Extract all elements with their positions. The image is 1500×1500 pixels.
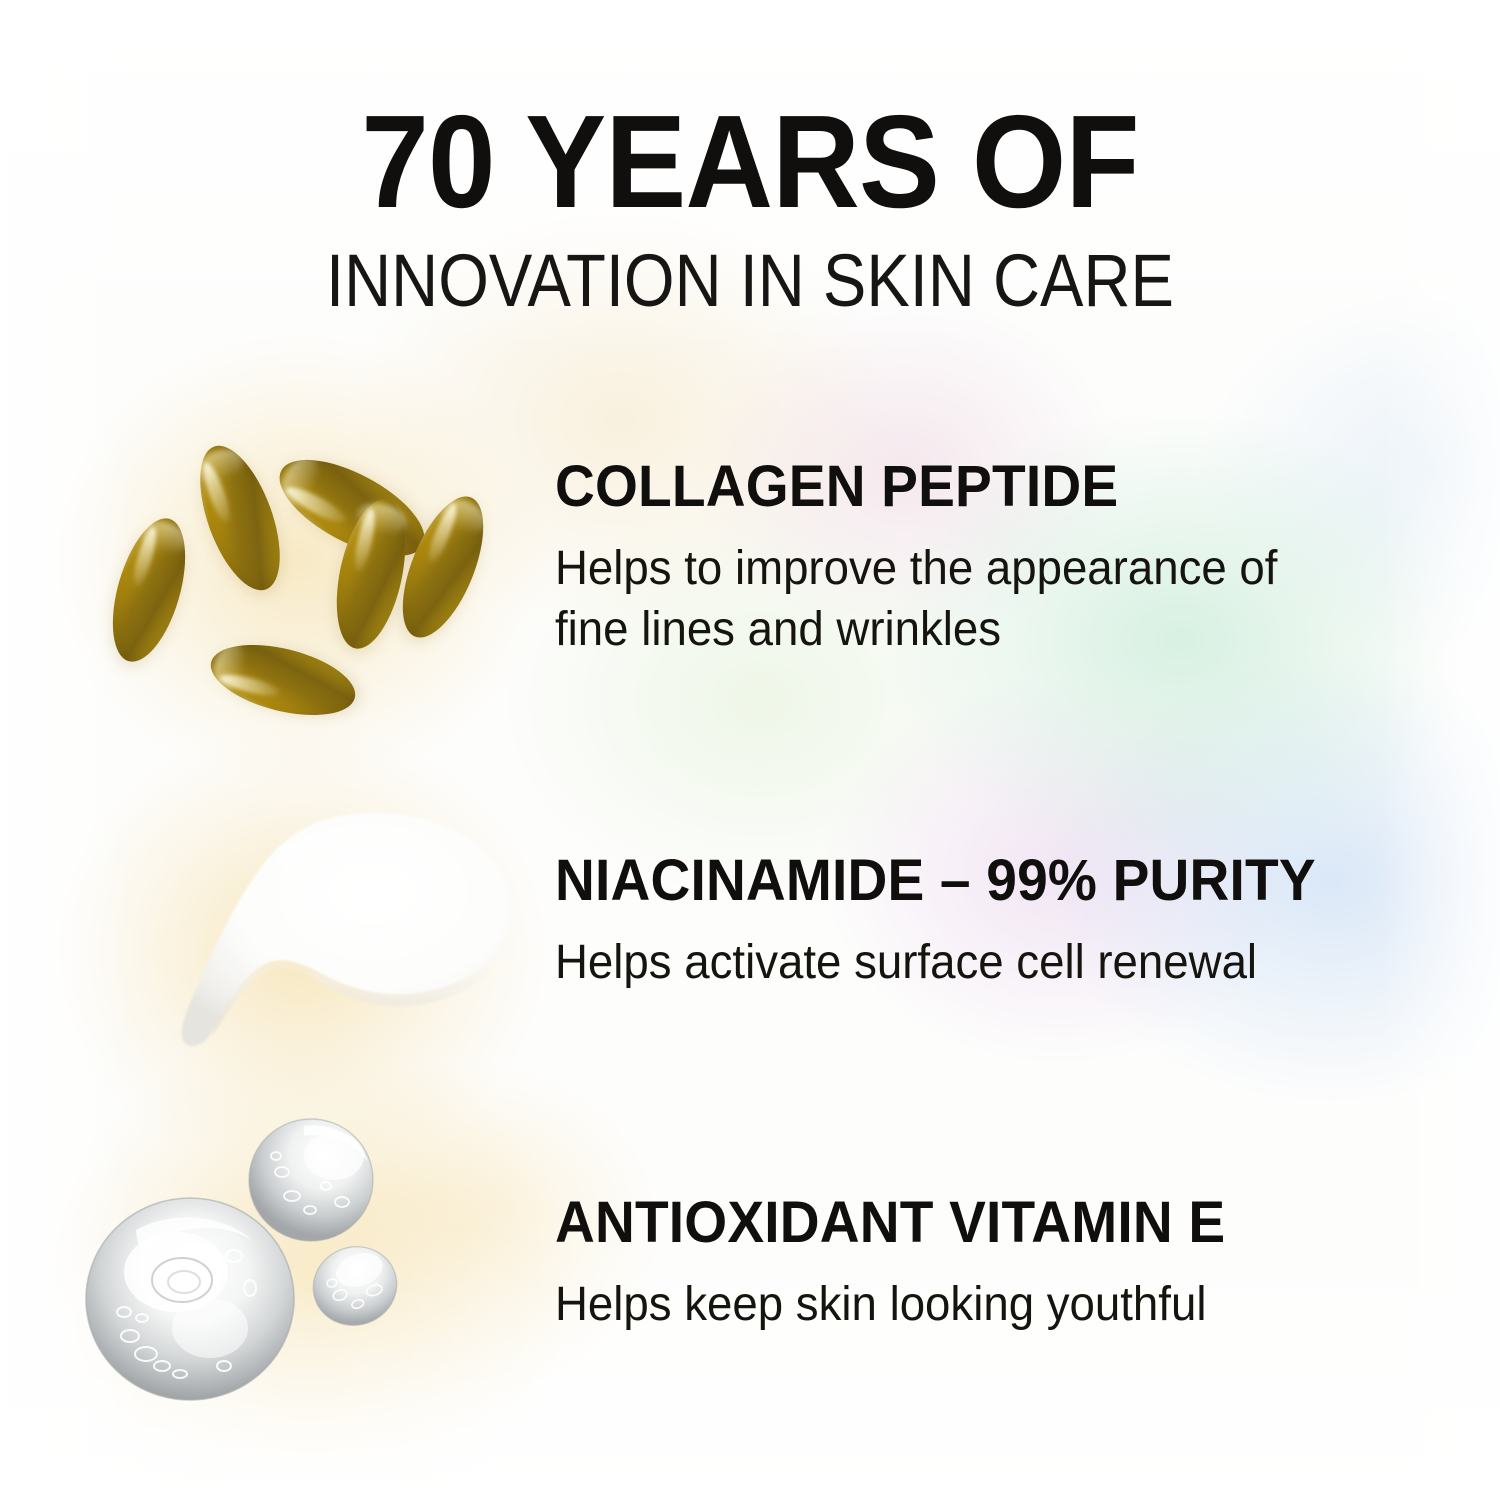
ingredient-description: Helps to improve the appearance of fine …	[555, 538, 1334, 661]
gel-droplet-icon	[84, 1196, 296, 1402]
softgel-capsule-icon	[184, 436, 296, 601]
gel-droplets-visual	[60, 1110, 500, 1400]
ingredient-row-vitamin-e: ANTIOXIDANT VITAMIN E Helps keep skin lo…	[0, 1110, 1500, 1400]
headline-secondary: INNOVATION IN SKIN CARE	[90, 244, 1410, 318]
marketing-infographic: 70 YEARS OF INNOVATION IN SKIN CARE COLL…	[0, 0, 1500, 1500]
ingredient-copy: NIACINAMIDE – 99% PURITY Helps activate …	[555, 852, 1445, 993]
softgel-capsule-icon	[99, 510, 199, 669]
ingredient-copy: ANTIOXIDANT VITAMIN E Helps keep skin lo…	[555, 1194, 1445, 1335]
headline-primary: 70 YEARS OF	[60, 96, 1440, 228]
capsules-visual	[60, 420, 500, 710]
ingredient-description: Helps activate surface cell renewal	[555, 932, 1334, 993]
ingredient-row-collagen-peptide: COLLAGEN PEPTIDE Helps to improve the ap…	[0, 420, 1500, 710]
cream-swatch-icon	[150, 800, 530, 1060]
headline-block: 70 YEARS OF INNOVATION IN SKIN CARE	[0, 96, 1500, 318]
cream-visual	[60, 800, 500, 1080]
gel-droplet-icon	[248, 1118, 374, 1242]
ingredient-row-niacinamide: NIACINAMIDE – 99% PURITY Helps activate …	[0, 800, 1500, 1080]
ingredient-title: NIACINAMIDE – 99% PURITY	[555, 852, 1401, 910]
ingredient-copy: COLLAGEN PEPTIDE Helps to improve the ap…	[555, 458, 1445, 661]
softgel-capsule-icon	[204, 632, 363, 728]
ingredient-title: ANTIOXIDANT VITAMIN E	[555, 1194, 1401, 1252]
gel-droplet-icon	[302, 1235, 409, 1338]
ingredient-title: COLLAGEN PEPTIDE	[555, 458, 1401, 516]
ingredient-description: Helps keep skin looking youthful	[555, 1274, 1334, 1335]
